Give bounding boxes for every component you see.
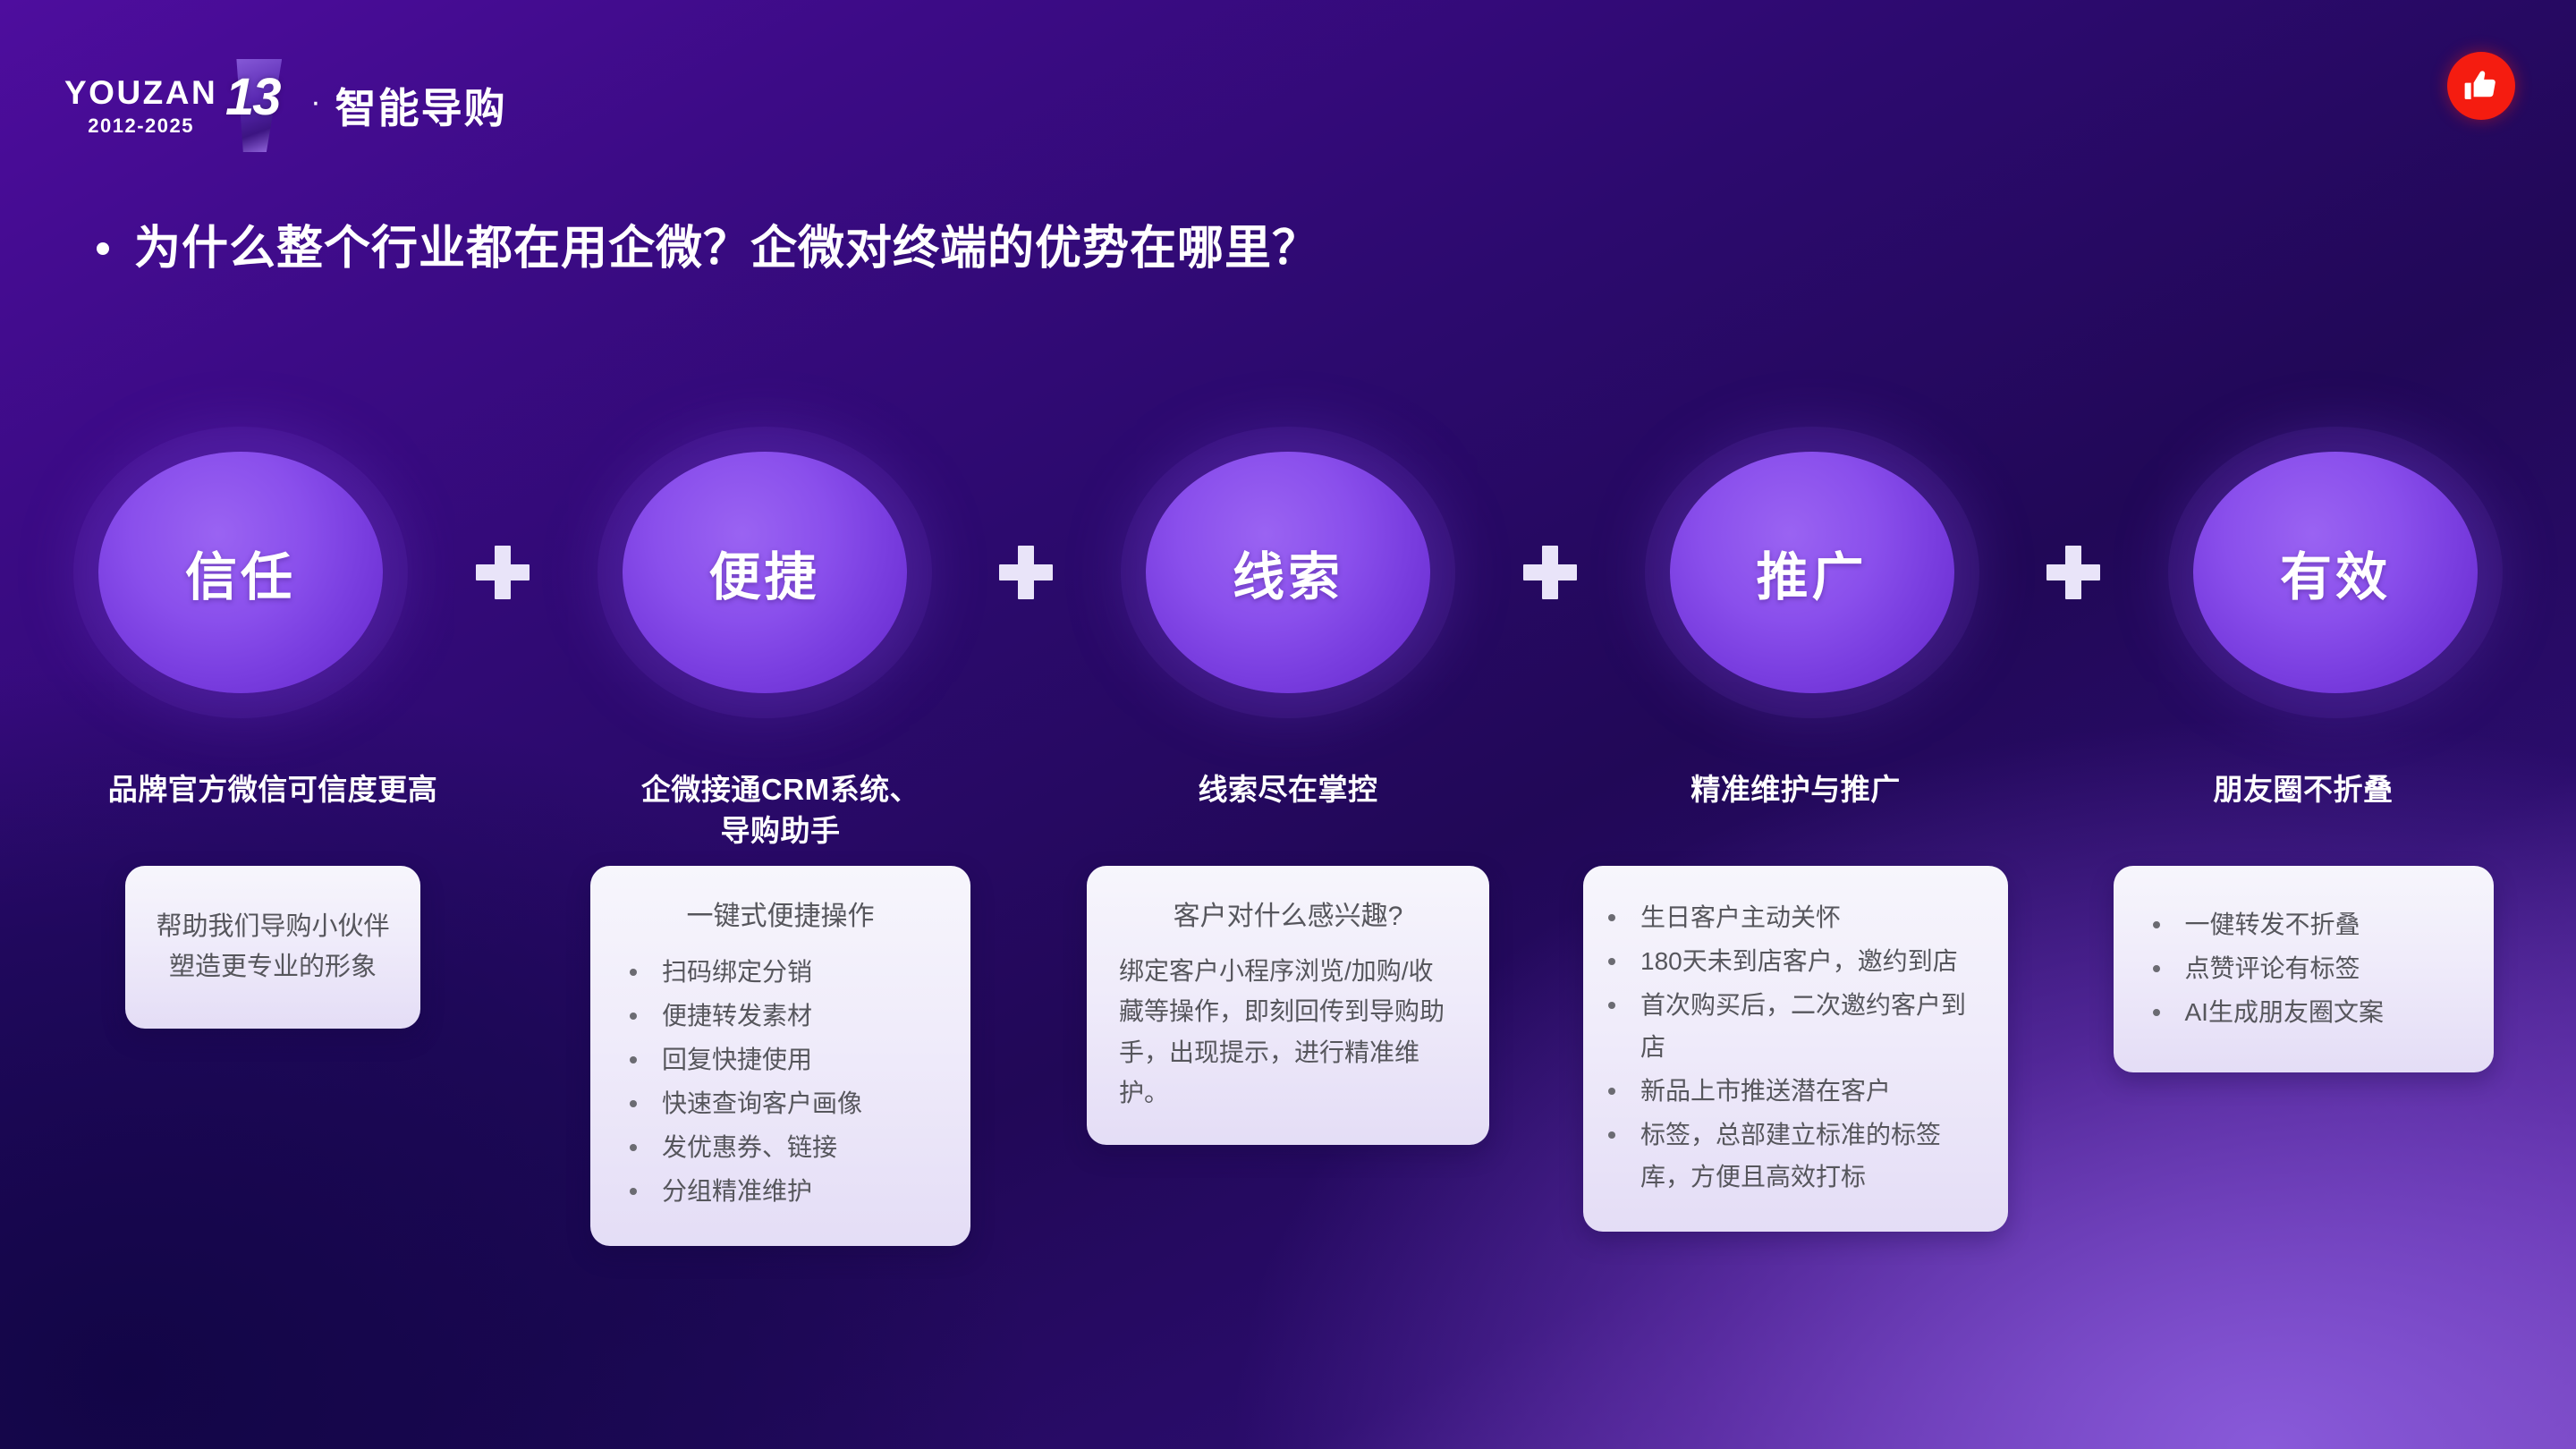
info-card[interactable]: 客户对什么感兴趣? 绑定客户小程序浏览/加购/收藏等操作，即刻回传到导购助手，出…: [1087, 866, 1489, 1145]
pillar-circle-convenience[interactable]: 便捷: [623, 461, 907, 684]
pillar-circle-effective[interactable]: 有效: [2193, 461, 2478, 684]
header-title: 智能导购: [335, 76, 507, 135]
list-item: 点赞评论有标签: [2140, 947, 2467, 989]
list-item: 新品上市推送潜在客户: [1596, 1070, 1990, 1112]
list-item: 发优惠券、链接: [617, 1126, 944, 1168]
list-item: 180天未到店客户，邀约到店: [1596, 940, 1990, 982]
anniversary-number: 13: [214, 72, 291, 123]
pillar-circle-trust[interactable]: 信任: [98, 461, 383, 684]
column-effective: 朋友圈不折叠 一健转发不折叠 点赞评论有标签 AI生成朋友圈文案: [2084, 769, 2522, 1072]
column-caption: 企微接通CRM系统、 导购助手: [641, 769, 919, 853]
plus-icon-3: [1523, 546, 1577, 599]
pillar-circle-promotion[interactable]: 推广: [1670, 461, 1954, 684]
info-card[interactable]: 生日客户主动关怀 180天未到店客户，邀约到店 首次购买后，二次邀约客户到店 新…: [1583, 866, 2008, 1232]
card-list: 一健转发不折叠 点赞评论有标签 AI生成朋友圈文案: [2140, 903, 2467, 1033]
list-item: 快速查询客户画像: [617, 1082, 944, 1124]
column-caption: 精准维护与推广: [1690, 769, 1901, 853]
pillar-circle-leads[interactable]: 线索: [1146, 461, 1430, 684]
orb-label: 推广: [1756, 535, 1867, 610]
info-card[interactable]: 帮助我们导购小伙伴 塑造更专业的形象: [125, 866, 420, 1029]
orb-label: 有效: [2280, 535, 2391, 610]
formula-row: 信任 便捷 线索 推广 有效: [98, 447, 2478, 698]
list-item: 生日客户主动关怀: [1596, 896, 1990, 938]
card-line-1: 帮助我们导购小伙伴: [152, 907, 394, 947]
card-lead: 客户对什么感兴趣?: [1119, 896, 1457, 936]
list-item: 便捷转发素材: [617, 995, 944, 1037]
thumbs-up-icon[interactable]: [2447, 52, 2515, 120]
column-trust: 品牌官方微信可信度更高 帮助我们导购小伙伴 塑造更专业的形象: [54, 769, 492, 1029]
orb-label: 便捷: [708, 535, 819, 610]
youzan-logo: YOUZAN 2012-2025: [64, 76, 217, 136]
plus-icon-4: [2046, 546, 2100, 599]
card-list: 扫码绑定分销 便捷转发素材 回复快捷使用 快速查询客户画像 发优惠券、链接 分组…: [617, 951, 944, 1212]
title-bullet-icon: [97, 242, 109, 255]
card-line-2: 塑造更专业的形象: [152, 947, 394, 987]
plus-icon-1: [476, 546, 530, 599]
header: YOUZAN 2012-2025 13 · 智能导购: [64, 63, 507, 148]
list-item: 首次购买后，二次邀约客户到店: [1596, 984, 1990, 1068]
column-promotion: 精准维护与推广 生日客户主动关怀 180天未到店客户，邀约到店 首次购买后，二次…: [1577, 769, 2015, 1232]
logo-years: 2012-2025: [88, 116, 194, 136]
column-caption-line-1: 企微接通CRM系统、: [641, 769, 919, 810]
list-item: AI生成朋友圈文案: [2140, 991, 2467, 1033]
list-item: 标签，总部建立标准的标签库，方便且高效打标: [1596, 1114, 1990, 1198]
plus-icon-2: [999, 546, 1053, 599]
list-item: 扫码绑定分销: [617, 951, 944, 993]
page-title-text: 为什么整个行业都在用企微？企微对终端的优势在哪里？: [134, 210, 1319, 277]
list-item: 分组精准维护: [617, 1170, 944, 1212]
info-card[interactable]: 一键式便捷操作 扫码绑定分销 便捷转发素材 回复快捷使用 快速查询客户画像 发优…: [590, 866, 970, 1246]
slide-canvas: YOUZAN 2012-2025 13 · 智能导购 为什么整个行业都在用企微？…: [0, 0, 2576, 1449]
list-item: 一健转发不折叠: [2140, 903, 2467, 945]
logo-wordmark: YOUZAN: [64, 76, 217, 109]
header-separator: ·: [310, 87, 320, 124]
column-convenience: 企微接通CRM系统、 导购助手 一键式便捷操作 扫码绑定分销 便捷转发素材 回复…: [562, 769, 1000, 1246]
orb-label: 信任: [185, 535, 296, 610]
column-caption-line-2: 导购助手: [641, 810, 919, 852]
column-caption: 线索尽在掌控: [1199, 769, 1378, 853]
orb-label: 线索: [1233, 535, 1343, 610]
column-leads: 线索尽在掌控 客户对什么感兴趣? 绑定客户小程序浏览/加购/收藏等操作，即刻回传…: [1069, 769, 1507, 1145]
column-caption: 品牌官方微信可信度更高: [108, 769, 438, 853]
list-item: 回复快捷使用: [617, 1038, 944, 1080]
column-caption: 朋友圈不折叠: [2214, 769, 2394, 853]
card-paragraph: 绑定客户小程序浏览/加购/收藏等操作，即刻回传到导购助手，出现提示，进行精准维护…: [1119, 951, 1457, 1113]
info-card[interactable]: 一健转发不折叠 点赞评论有标签 AI生成朋友圈文案: [2114, 866, 2494, 1072]
anniversary-mark-icon: 13: [214, 59, 291, 152]
columns-row: 品牌官方微信可信度更高 帮助我们导购小伙伴 塑造更专业的形象 企微接通CRM系统…: [54, 769, 2522, 1342]
card-lead: 一键式便捷操作: [617, 896, 944, 936]
page-title: 为什么整个行业都在用企微？企微对终端的优势在哪里？: [97, 210, 1319, 277]
card-list: 生日客户主动关怀 180天未到店客户，邀约到店 首次购买后，二次邀约客户到店 新…: [1596, 896, 1990, 1198]
